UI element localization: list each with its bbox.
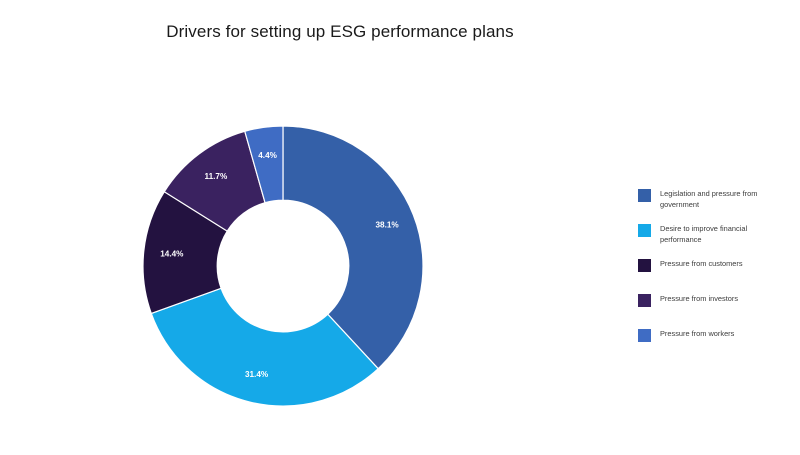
donut-slice-label: 11.7% (204, 172, 227, 181)
legend-swatch (638, 224, 651, 237)
legend-item[interactable]: Pressure from investors (638, 294, 796, 329)
donut-slice-label: 14.4% (160, 250, 184, 259)
legend-item[interactable]: Pressure from customers (638, 259, 796, 294)
donut-slice-label: 4.4% (258, 151, 277, 160)
donut-slices (143, 126, 423, 406)
legend-item-label: Pressure from investors (660, 294, 738, 305)
legend-swatch (638, 259, 651, 272)
chart-title: Drivers for setting up ESG performance p… (0, 22, 680, 42)
legend-item-label: Legislation and pressure from government (660, 189, 780, 210)
donut-slice-label: 38.1% (375, 221, 399, 230)
donut-chart-svg: 38.1%31.4%14.4%11.7%4.4% (143, 126, 423, 406)
legend-item-label: Desire to improve financial performance (660, 224, 780, 245)
legend: Legislation and pressure from government… (638, 189, 796, 364)
legend-swatch (638, 294, 651, 307)
legend-item[interactable]: Legislation and pressure from government (638, 189, 796, 224)
legend-swatch (638, 189, 651, 202)
donut-chart: 38.1%31.4%14.4%11.7%4.4% (143, 126, 423, 406)
legend-item[interactable]: Pressure from workers (638, 329, 796, 364)
legend-item-label: Pressure from workers (660, 329, 734, 340)
legend-item[interactable]: Desire to improve financial performance (638, 224, 796, 259)
legend-item-label: Pressure from customers (660, 259, 743, 270)
legend-swatch (638, 329, 651, 342)
donut-slice-label: 31.4% (245, 370, 269, 379)
